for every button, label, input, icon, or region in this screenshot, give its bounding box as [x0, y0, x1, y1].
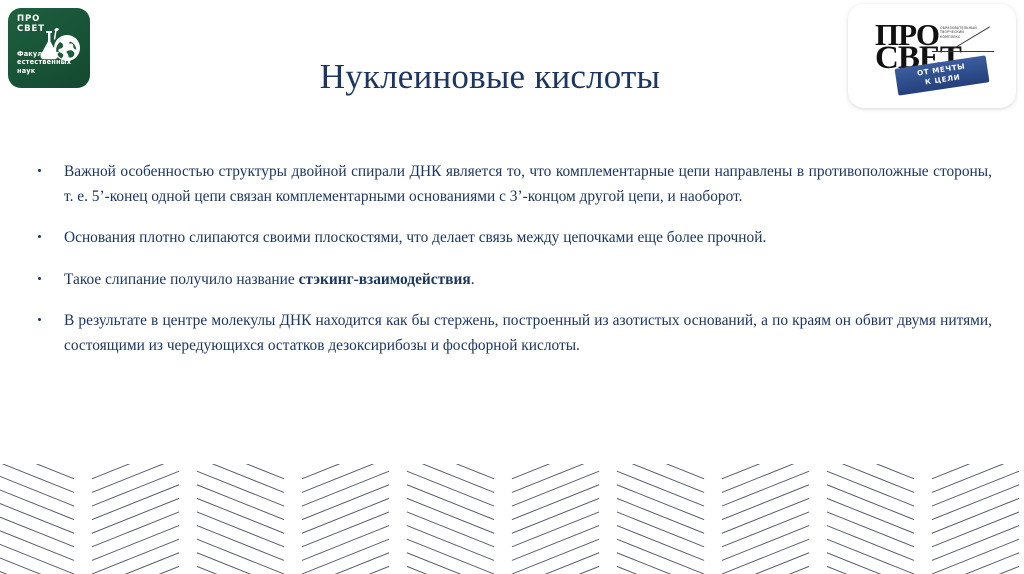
slide-canvas: ПРО СВЕТ Факультет естественных наук ПРО… — [0, 0, 1024, 574]
bullet-item: Такое слипание получило название стэкинг… — [32, 268, 992, 293]
bullet-text: В результате в центре молекулы ДНК наход… — [64, 309, 992, 358]
prosvet-logo: ПРО СВЕТ ОБРАЗОВАТЕЛЬНЫЙ ТВОРЧЕСКИЙ КОМП… — [848, 4, 1016, 108]
chevron-decoration — [0, 464, 1024, 574]
bullet-dot-icon — [38, 169, 41, 172]
bullet-dot-icon — [38, 277, 41, 280]
slide-title: Нуклеиновые кислоты — [120, 55, 860, 99]
badge-caption: Факультет естественных наук — [17, 50, 90, 75]
bullet-item: В результате в центре молекулы ДНК наход… — [32, 309, 992, 358]
bullet-dot-icon — [38, 318, 41, 321]
prosvet-tiny-caption: ОБРАЗОВАТЕЛЬНЫЙ ТВОРЧЕСКИЙ КОМПЛЕКС — [940, 26, 980, 39]
bullet-list: Важной особенностью структуры двойной сп… — [32, 160, 992, 358]
bullet-item: Основания плотно слипаются своими плоско… — [32, 226, 992, 251]
faculty-badge-logo: ПРО СВЕТ Факультет естественных наук — [8, 8, 90, 88]
logo-rule-horizontal — [932, 51, 994, 52]
bullet-text: Основания плотно слипаются своими плоско… — [64, 226, 992, 251]
bullet-text: Важной особенностью структуры двойной сп… — [64, 160, 992, 209]
bullet-text: Такое слипание получило название стэкинг… — [64, 268, 992, 293]
bullet-item: Важной особенностью структуры двойной сп… — [32, 160, 992, 209]
bullet-dot-icon — [38, 235, 41, 238]
